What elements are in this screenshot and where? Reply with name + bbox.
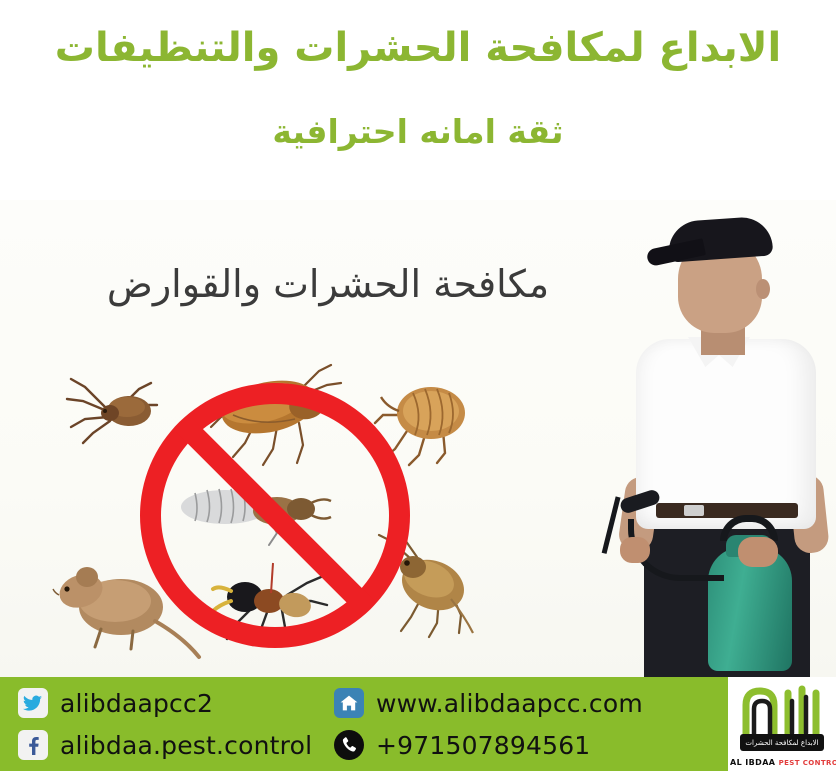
contact-column-web: www.alibdaapcc.com +971507894561 <box>334 686 694 762</box>
twitter-handle: alibdaapcc2 <box>60 689 213 718</box>
technician-ear <box>756 279 770 299</box>
phone-icon[interactable] <box>334 730 364 760</box>
advertisement-poster: الابداع لمكافحة الحشرات والتنظيفات ثقة ا… <box>0 0 836 771</box>
technician-left-hand <box>620 537 650 563</box>
prohibition-slash <box>174 415 376 617</box>
contact-column-social: alibdaapcc2 alibdaa.pest.control <box>18 686 334 762</box>
technician-photo <box>616 207 826 677</box>
logo-caption: AL IBDAA PEST CONTROL <box>730 758 834 767</box>
logo-arabic-badge: الابداع لمكافحة الحشرات <box>740 734 824 751</box>
home-icon[interactable] <box>334 688 364 718</box>
technician-right-hand <box>738 537 778 567</box>
contact-footer: alibdaapcc2 alibdaa.pest.control www.a <box>0 677 836 771</box>
facebook-handle: alibdaa.pest.control <box>60 731 312 760</box>
technician-cap <box>667 215 774 262</box>
technician-shirt <box>636 339 816 529</box>
website-url: www.alibdaapcc.com <box>376 689 643 718</box>
poster-header: الابداع لمكافحة الحشرات والتنظيفات ثقة ا… <box>0 0 836 200</box>
twitter-icon[interactable] <box>18 688 48 718</box>
pest-illustration-cluster <box>55 365 485 665</box>
company-logo[interactable]: الابداع لمكافحة الحشرات AL IBDAA PEST CO… <box>728 677 836 771</box>
spider-icon <box>65 371 161 447</box>
prohibition-sign-icon <box>140 383 410 648</box>
contact-row-website[interactable]: www.alibdaapcc.com <box>334 686 694 720</box>
contact-row-twitter[interactable]: alibdaapcc2 <box>18 686 334 720</box>
company-subheadline: ثقة امانه احترافية <box>272 114 563 150</box>
facebook-icon[interactable] <box>18 730 48 760</box>
contact-row-facebook[interactable]: alibdaa.pest.control <box>18 728 334 762</box>
photo-panel: مكافحة الحشرات والقوارض <box>0 200 836 677</box>
contact-row-phone[interactable]: +971507894561 <box>334 728 694 762</box>
technician-belt <box>656 503 798 518</box>
logo-caption-sub: PEST CONTROL <box>779 759 836 767</box>
company-headline: الابداع لمكافحة الحشرات والتنظيفات <box>55 26 781 70</box>
service-caption: مكافحة الحشرات والقوارض <box>0 262 656 306</box>
logo-caption-main: AL IBDAA <box>730 758 775 767</box>
phone-number: +971507894561 <box>376 731 590 760</box>
